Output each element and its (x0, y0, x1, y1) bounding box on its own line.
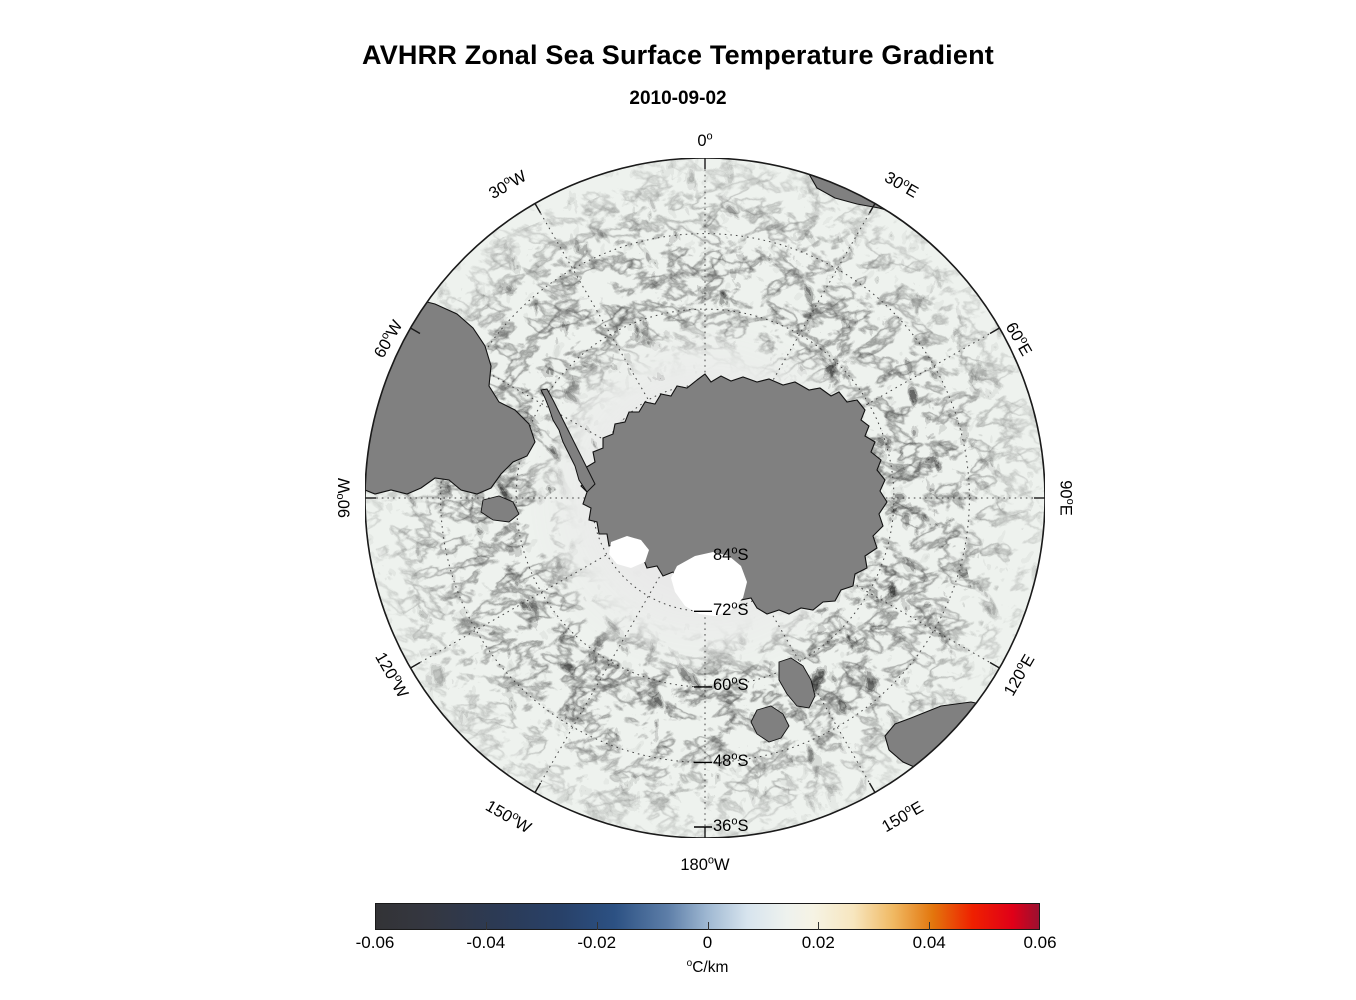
degree-sign-icon: o (334, 494, 346, 500)
colorbar-tick-label: 0 (703, 933, 712, 953)
degree-sign-icon: o (1064, 499, 1076, 505)
figure-subtitle-date: 2010-09-02 (0, 88, 1356, 110)
lon-0-value: 0 (697, 132, 706, 150)
page-title: AVHRR Zonal Sea Surface Temperature Grad… (0, 40, 1356, 71)
ocean-field-layer (365, 158, 1045, 838)
degree-sign-icon: o (708, 855, 714, 867)
lon-label-180W: 180oW (680, 856, 729, 875)
colorbar-tick-label: 0.06 (1023, 933, 1056, 953)
colorbar-tick-label: -0.02 (577, 933, 616, 953)
polar-map[interactable]: 0o 30oE 60oE 90oE 120oE 150oE 180oW 150o… (365, 158, 1045, 838)
colorbar-tick-label: -0.04 (466, 933, 505, 953)
colorbar-ticks (375, 903, 1040, 930)
lon-label-0: 0o (697, 132, 712, 151)
lon-label-90E: 90oE (1056, 480, 1075, 516)
colorbar[interactable]: -0.06 -0.04 -0.02 0 0.02 0.04 0.06 oC/km (375, 903, 1040, 995)
colorbar-tick-label: -0.06 (356, 933, 395, 953)
polar-stereographic-plot[interactable] (365, 158, 1045, 838)
colorbar-tick-label: 0.04 (913, 933, 946, 953)
colorbar-tick-label: 0.02 (802, 933, 835, 953)
colorbar-tick-labels: -0.06 -0.04 -0.02 0 0.02 0.04 0.06 (375, 933, 1040, 957)
colorbar-units-label: oC/km (375, 959, 1040, 977)
tasmania-landmass (917, 782, 947, 806)
figure-canvas: AVHRR Zonal Sea Surface Temperature Grad… (0, 0, 1356, 1000)
lon-label-90W: 90oW (336, 478, 355, 518)
degree-sign-icon: o (707, 131, 713, 143)
